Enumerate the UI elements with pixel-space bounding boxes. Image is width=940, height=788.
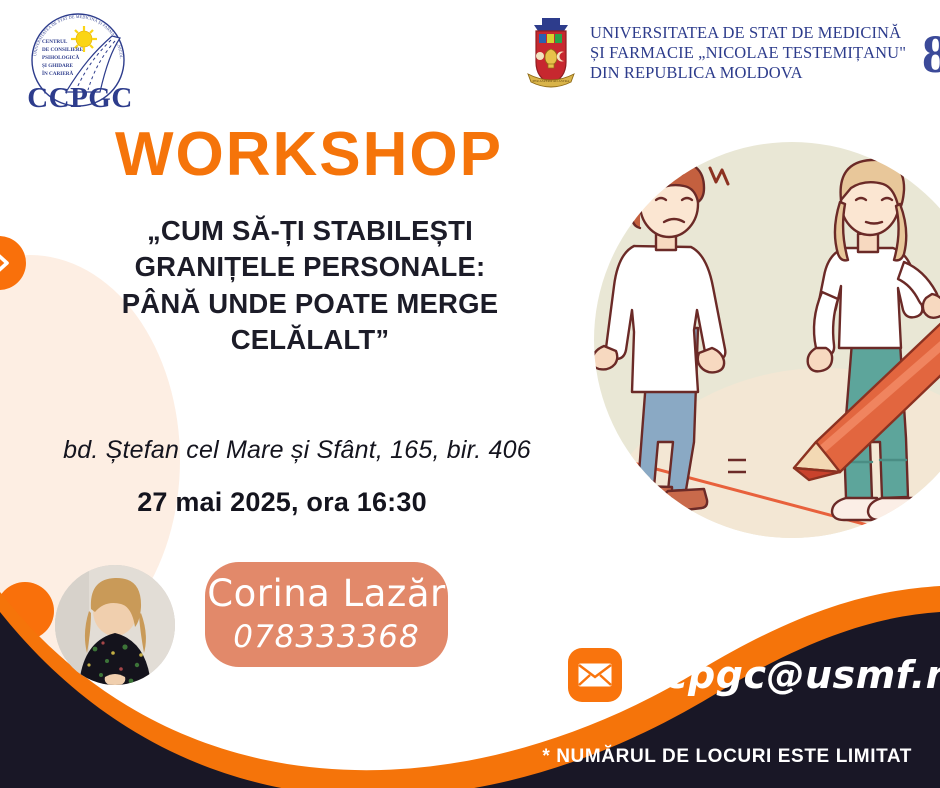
illustration — [572, 120, 940, 560]
presenter-phone[interactable]: 078333368 — [233, 622, 420, 653]
svg-text:80: 80 — [922, 24, 940, 84]
svg-text:DE CONSILIERE: DE CONSILIERE — [42, 47, 84, 53]
svg-text:PSIHOLOGICĂ: PSIHOLOGICĂ — [42, 53, 79, 61]
university-logo: PER ASPERA AD ASTRA UNIVERSITATEA DE STA… — [522, 8, 940, 98]
presenter-avatar — [55, 565, 175, 685]
university-name: UNIVERSITATEA DE STAT DE MEDICINĂ ȘI FAR… — [590, 23, 906, 83]
ccpgc-logo: UNIVERSITATEA DE STAT DE MEDICINĂ ȘI FAR… — [16, 8, 146, 118]
workshop-title: „CUM SĂ-ȚI STABILEȘTI GRANIȚELE PERSONAL… — [60, 213, 560, 358]
event-type-heading: WORKSHOP — [0, 124, 618, 186]
event-datetime: 27 mai 2025, ora 16:30 — [12, 487, 552, 518]
svg-text:ÎN CARIERĂ: ÎN CARIERĂ — [42, 69, 74, 77]
envelope-icon — [568, 648, 622, 702]
anniversary-80-logo: 80 1945 2025 — [918, 18, 940, 88]
workshop-title-line-1: „CUM SĂ-ȚI STABILEȘTI — [60, 213, 560, 249]
venue-address: bd. Ștefan cel Mare și Sfânt, 165, bir. … — [12, 436, 582, 465]
illustration-figures — [594, 142, 940, 538]
workshop-title-line-4: CELĂLALT” — [60, 322, 560, 358]
seats-limited-note: * NUMĂRUL DE LOCURI ESTE LIMITAT — [0, 746, 912, 768]
university-name-line2: ȘI FARMACIE „NICOLAE TESTEMIȚANU" — [590, 43, 906, 63]
contact-email[interactable]: ccpgc@usmf.md — [642, 653, 940, 697]
event-poster: UNIVERSITATEA DE STAT DE MEDICINĂ ȘI FAR… — [0, 0, 940, 788]
university-name-line3: DIN REPUBLICA MOLDOVA — [590, 63, 906, 83]
svg-text:CENTRUL: CENTRUL — [42, 39, 68, 45]
contact-email-row[interactable]: ccpgc@usmf.md — [568, 648, 940, 702]
presenter-badge: Corina Lazăr 078333368 — [205, 562, 448, 667]
svg-text:ȘI GHIDARE: ȘI GHIDARE — [42, 63, 74, 69]
svg-text:CCPGC: CCPGC — [27, 82, 133, 114]
university-crest-icon: PER ASPERA AD ASTRA — [522, 16, 580, 90]
university-name-line1: UNIVERSITATEA DE STAT DE MEDICINĂ — [590, 23, 906, 43]
workshop-title-line-3: PÂNĂ UNDE POATE MERGE — [60, 286, 560, 322]
workshop-title-line-2: GRANIȚELE PERSONALE: — [60, 249, 560, 285]
presenter-name: Corina Lazăr — [207, 575, 445, 612]
svg-text:PER ASPERA AD ASTRA: PER ASPERA AD ASTRA — [532, 79, 570, 83]
